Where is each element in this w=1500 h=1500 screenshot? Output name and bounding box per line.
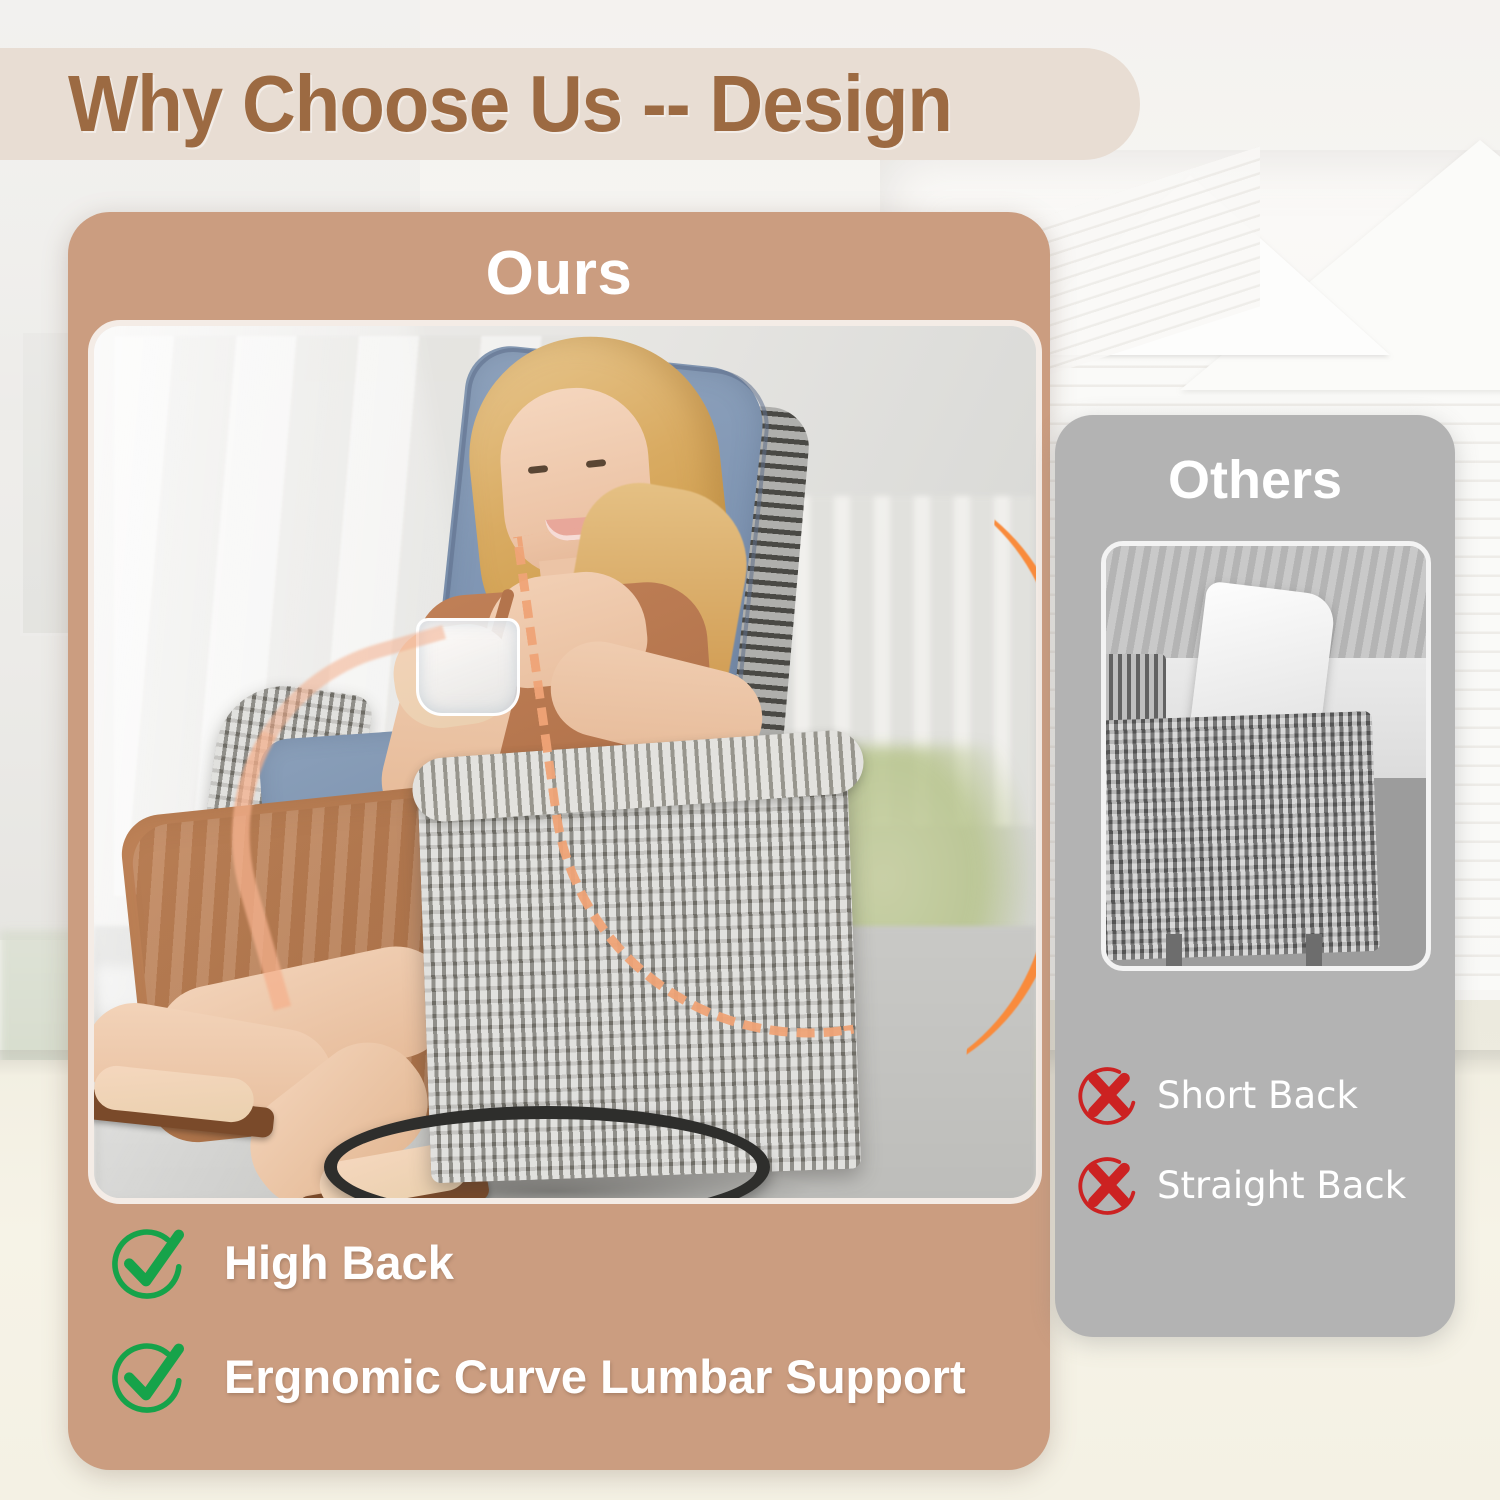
ours-feature-list: High Back Ergnomic Curve Lumbar Support (110, 1222, 1030, 1450)
ours-panel: Ours (68, 212, 1050, 1470)
others-panel: Others Short Back (1055, 415, 1455, 1337)
ours-label: Ours (68, 238, 1050, 309)
others-drawback-item: Short Back (1077, 1063, 1457, 1127)
ours-product-photo (88, 320, 1042, 1204)
others-wicker-sofa (1101, 711, 1380, 961)
ours-feature-label: High Back (224, 1235, 454, 1290)
page-title: Why Choose Us -- Design (68, 58, 952, 150)
others-sofa-leg (1166, 934, 1182, 968)
ours-feature-item: High Back (110, 1222, 1030, 1302)
others-drawback-label: Straight Back (1157, 1164, 1406, 1207)
check-circle-icon (110, 1336, 190, 1416)
others-sofa-leg (1306, 934, 1322, 968)
others-product-photo (1101, 541, 1431, 971)
others-drawback-label: Short Back (1157, 1074, 1358, 1117)
cross-circle-icon (1077, 1153, 1141, 1217)
others-drawback-item: Straight Back (1077, 1153, 1457, 1217)
check-circle-icon (110, 1222, 190, 1302)
others-drawback-list: Short Back Straight Back (1077, 1063, 1457, 1243)
ours-feature-item: Ergnomic Curve Lumbar Support (110, 1336, 1030, 1416)
ours-feature-label: Ergnomic Curve Lumbar Support (224, 1349, 966, 1404)
title-banner: Why Choose Us -- Design (0, 48, 1140, 160)
cross-circle-icon (1077, 1063, 1141, 1127)
others-label: Others (1055, 449, 1455, 511)
